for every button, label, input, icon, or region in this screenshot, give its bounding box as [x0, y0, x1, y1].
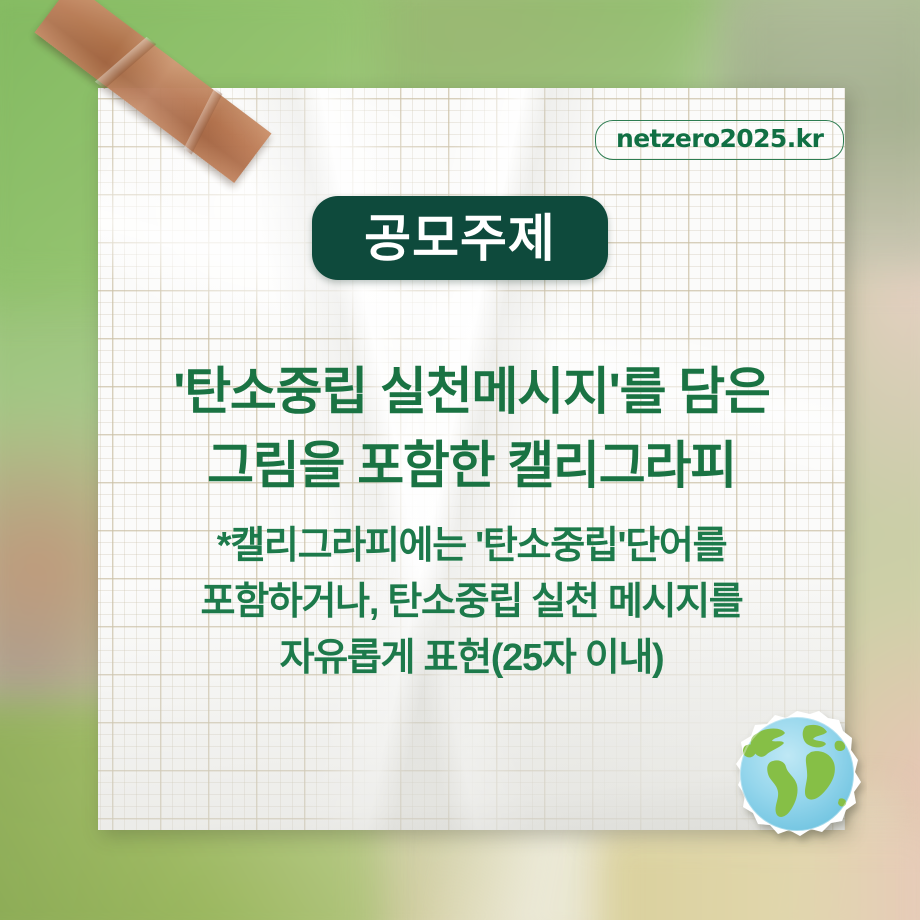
earth-globe-icon — [727, 707, 867, 847]
page-title-line-1: '탄소중립 실천메시지'를 담은 — [98, 355, 845, 429]
poster-canvas: netzero2025.kr 공모주제 '탄소중립 실천메시지'를 담은 그림을… — [0, 0, 920, 920]
note-line-1: *캘리그라피에는 '탄소중립'단어를 — [98, 518, 845, 574]
note-line-2: 포함하거나, 탄소중립 실천 메시지를 — [98, 574, 845, 630]
section-heading-label: 공모주제 — [364, 213, 556, 264]
page-title-line-2: 그림을 포함한 캘리그라피 — [98, 429, 845, 503]
page-title: '탄소중립 실천메시지'를 담은 그림을 포함한 캘리그라피 — [98, 355, 845, 503]
note-text: *캘리그라피에는 '탄소중립'단어를 포함하거나, 탄소중립 실천 메시지를 자… — [98, 518, 845, 686]
note-line-3: 자유롭게 표현(25자 이내) — [98, 630, 845, 686]
site-url-badge[interactable]: netzero2025.kr — [595, 120, 844, 160]
site-url-badge-label: netzero2025.kr — [616, 124, 823, 153]
section-heading-pill: 공모주제 — [312, 196, 608, 280]
